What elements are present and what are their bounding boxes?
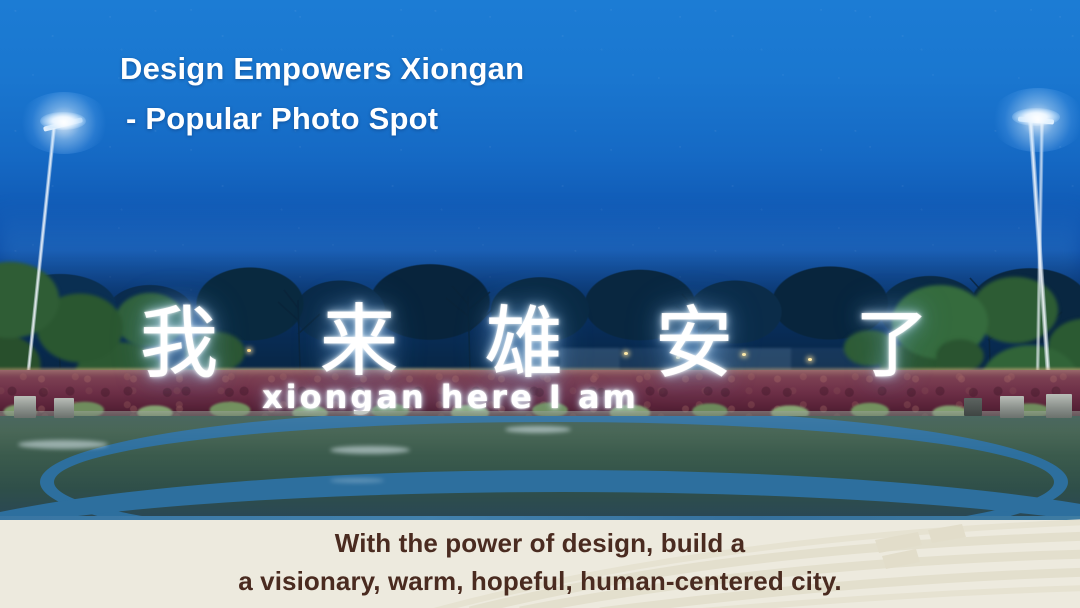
lamp-glow bbox=[990, 88, 1080, 152]
sculpture-character-lai: 来 bbox=[320, 303, 398, 381]
sculpture-character-wo: 我 bbox=[140, 305, 218, 383]
slide-root: 我 来 雄 安 了 xiongan here I am Design Empow… bbox=[0, 0, 1080, 608]
plaza-reflection bbox=[330, 446, 410, 454]
caption-text-block: With the power of design, build a a visi… bbox=[0, 516, 1080, 608]
plaza-reflection bbox=[18, 440, 108, 449]
stone-bollard bbox=[1046, 394, 1072, 418]
title-line-2: - Popular Photo Spot bbox=[120, 94, 524, 144]
plaza-reflection bbox=[505, 426, 571, 433]
sculpture-character-le: 了 bbox=[855, 308, 929, 382]
stone-bollard bbox=[1000, 396, 1024, 418]
plaza-ground bbox=[0, 416, 1080, 516]
trash-bin bbox=[964, 398, 982, 416]
caption-band: With the power of design, build a a visi… bbox=[0, 516, 1080, 608]
stone-bollard bbox=[54, 398, 74, 418]
plaza-reflection bbox=[330, 478, 384, 483]
caption-line-2: a visionary, warm, hopeful, human-center… bbox=[238, 562, 841, 600]
caption-line-1: With the power of design, build a bbox=[335, 524, 745, 562]
sculpture-character-an: 安 bbox=[655, 305, 733, 383]
slide-title: Design Empowers Xiongan - Popular Photo … bbox=[120, 44, 524, 144]
lamp-glow bbox=[18, 92, 110, 154]
stone-bollard bbox=[14, 396, 36, 418]
sculpture-character-xiong: 雄 bbox=[485, 305, 563, 383]
title-line-1: Design Empowers Xiongan bbox=[120, 44, 524, 94]
